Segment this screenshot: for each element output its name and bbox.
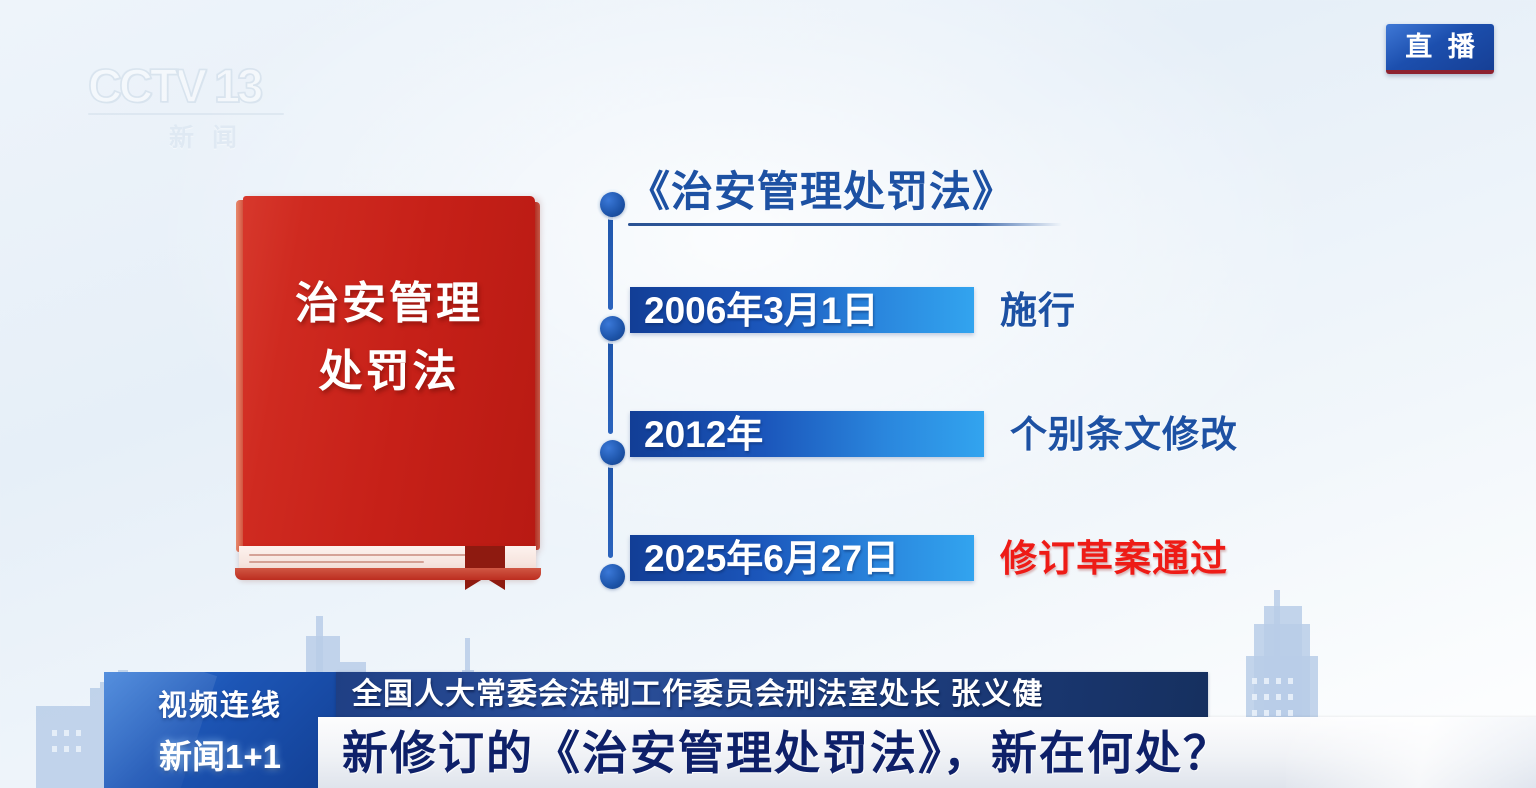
law-book-graphic: 治安管理 处罚法 — [243, 196, 539, 584]
timeline-date-1: 2006年3月1日 — [644, 292, 878, 329]
headline-bar: 新修订的《治安管理处罚法》，新在何处？ — [318, 717, 1536, 788]
lower-third-banner: 视频连线 新闻1+1 全国人大常委会法制工作委员会刑法室处长 张义健 新修订的《… — [48, 670, 1536, 788]
timeline-row-1: 2006年3月1日 施行 — [630, 287, 1076, 333]
timeline-label-1: 施行 — [1000, 292, 1076, 329]
program-name-label: 新闻1+1 — [104, 730, 336, 778]
timeline-date-chip-3: 2025年6月27日 — [630, 535, 974, 581]
book-cover: 治安管理 处罚法 — [243, 196, 535, 548]
timeline-dot-heading — [600, 192, 625, 217]
guest-title-bar: 全国人大常委会法制工作委员会刑法室处长 张义健 — [336, 672, 1208, 717]
timeline-axis — [607, 188, 614, 580]
book-page-line — [249, 561, 424, 563]
timeline-label-2: 个别条文修改 — [1010, 416, 1238, 453]
timeline-label-3: 修订草案通过 — [1000, 540, 1228, 577]
cctv13-channel-logo: CCTV 13 新闻 — [88, 62, 318, 158]
book-title-line-1: 治安管理 — [243, 270, 535, 338]
timeline-dot-1 — [600, 316, 625, 341]
timeline-dot-3 — [600, 564, 625, 589]
timeline-heading: 《治安管理处罚法》 — [628, 170, 1098, 226]
book-base — [235, 568, 541, 580]
timeline-connector — [608, 336, 613, 434]
program-mode-label: 视频连线 — [104, 672, 336, 724]
guest-title-text: 全国人大常委会法制工作委员会刑法室处长 张义健 — [336, 680, 1043, 710]
timeline-date-2: 2012年 — [644, 416, 763, 453]
timeline-date-chip-1: 2006年3月1日 — [630, 287, 974, 333]
book-cover-title: 治安管理 处罚法 — [243, 270, 535, 406]
timeline-heading-underline — [628, 223, 1062, 226]
timeline-row-2: 2012年 个别条文修改 — [630, 411, 1238, 457]
headline-text: 新修订的《治安管理处罚法》，新在何处？ — [318, 730, 1231, 776]
channel-logo-text: CCTV 13 — [88, 62, 318, 109]
book-title-line-2: 处罚法 — [243, 338, 535, 406]
timeline-heading-text: 《治安管理处罚法》 — [628, 170, 1098, 214]
program-logo-block: 视频连线 新闻1+1 — [104, 672, 336, 788]
law-timeline: 《治安管理处罚法》 2006年3月1日 施行 2012年 个别条文修改 2025… — [600, 170, 1360, 600]
timeline-date-chip-2: 2012年 — [630, 411, 984, 457]
book-page-line — [249, 554, 489, 556]
channel-logo-subtitle: 新闻 — [88, 118, 318, 154]
channel-logo-divider — [88, 113, 284, 115]
live-badge-label: 直 播 — [1401, 34, 1479, 61]
timeline-date-3: 2025年6月27日 — [644, 540, 899, 577]
timeline-connector — [608, 460, 613, 558]
timeline-row-3: 2025年6月27日 修订草案通过 — [630, 535, 1228, 581]
timeline-connector — [608, 210, 613, 310]
live-badge: 直 播 — [1386, 24, 1494, 74]
timeline-dot-2 — [600, 440, 625, 465]
